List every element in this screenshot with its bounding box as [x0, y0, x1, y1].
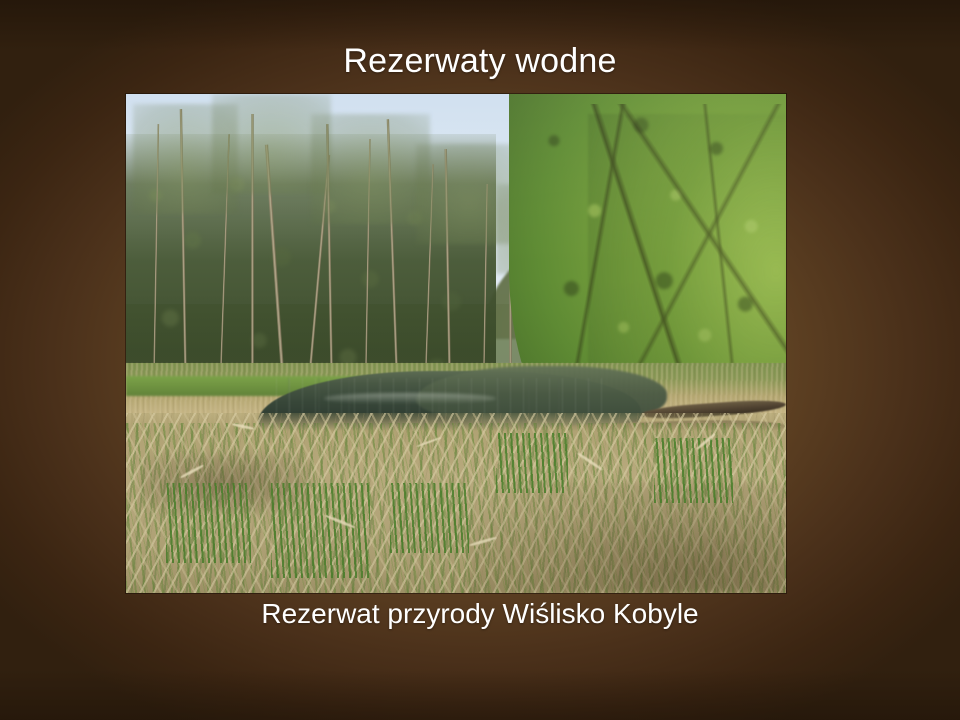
- soil-patch-right: [469, 483, 786, 593]
- photo-wislisko-kobyle: [126, 94, 786, 593]
- slide-canvas: Rezerwaty wodne: [0, 0, 960, 720]
- iris-clump: [390, 483, 469, 553]
- photo-caption: Rezerwat przyrody Wiślisko Kobyle: [0, 599, 960, 630]
- iris-clump: [166, 483, 252, 563]
- page-title: Rezerwaty wodne: [0, 44, 960, 80]
- iris-clump: [654, 438, 733, 503]
- iris-clump: [496, 433, 569, 493]
- tree-crown: [311, 114, 430, 224]
- iris-clump: [271, 483, 370, 578]
